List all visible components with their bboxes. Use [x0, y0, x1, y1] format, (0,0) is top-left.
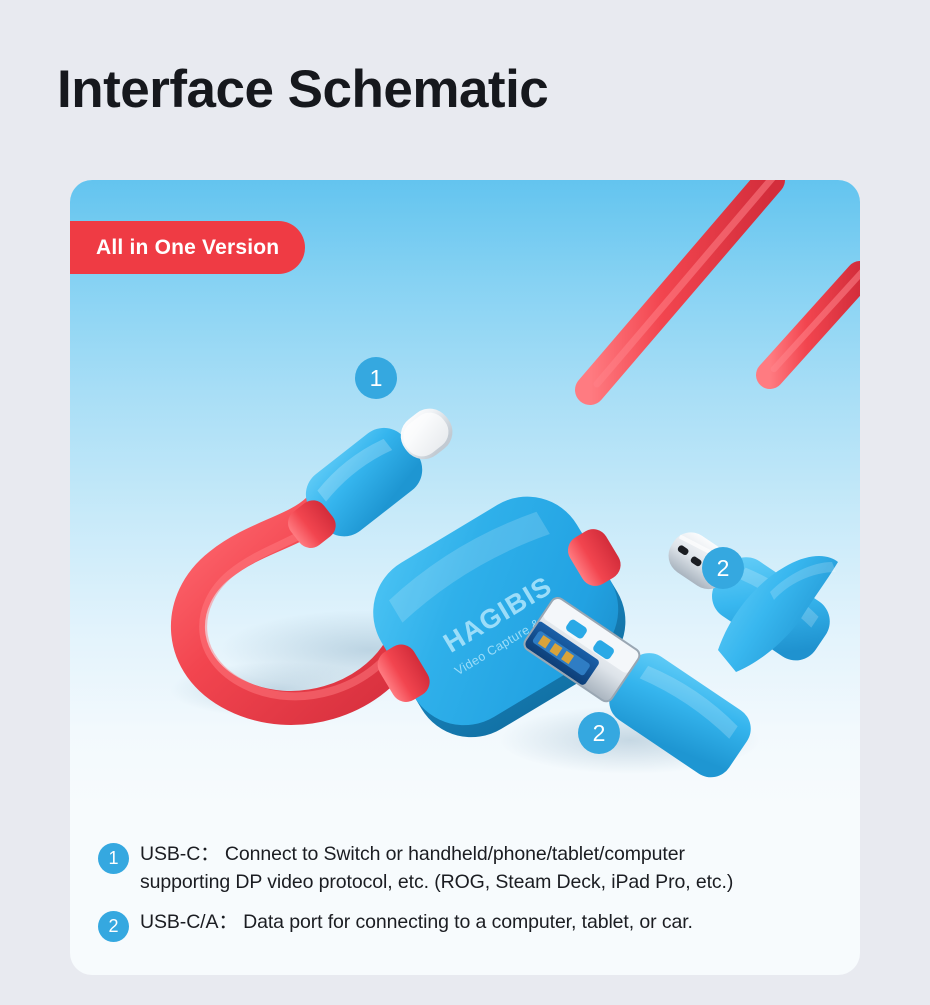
callout-badge-2-usb-a: 2 [578, 712, 620, 754]
all-in-one-version-badge: All in One Version [70, 221, 305, 274]
product-photo-panel: HAGIBIS Video Capture & Dock [70, 180, 860, 805]
caption-line-2a: USB-C/A： Data port for connecting to a c… [140, 911, 693, 933]
caption-text-2: USB-C/A： Data port for connecting to a c… [140, 909, 693, 937]
caption-text-1: USB-C： Connect to Switch or handheld/pho… [140, 841, 733, 896]
schematic-card: HAGIBIS Video Capture & Dock [70, 180, 860, 975]
caption-item-2: 2 USB-C/A： Data port for connecting to a… [98, 909, 830, 942]
caption-number-1: 1 [98, 843, 129, 874]
caption-number-2: 2 [98, 911, 129, 942]
page-title: Interface Schematic [57, 62, 548, 118]
caption-item-1: 1 USB-C： Connect to Switch or handheld/p… [98, 841, 830, 896]
callout-badge-1: 1 [355, 357, 397, 399]
caption-line-1b: supporting DP video protocol, etc. (ROG,… [140, 869, 733, 897]
caption-line-1a: USB-C： Connect to Switch or handheld/pho… [140, 843, 685, 865]
callout-badge-2-usb-c: 2 [702, 547, 744, 589]
caption-list: 1 USB-C： Connect to Switch or handheld/p… [70, 805, 860, 955]
